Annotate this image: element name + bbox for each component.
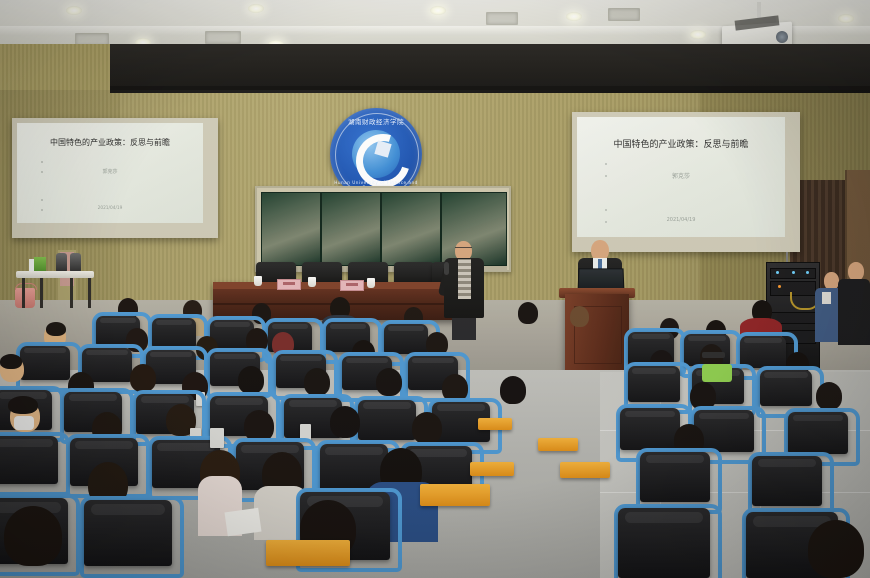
audience-head [570, 306, 589, 327]
auditorium-seat[interactable] [760, 370, 812, 406]
table-leg [40, 278, 43, 308]
table-leg [22, 278, 25, 308]
auditorium-seat[interactable] [384, 324, 428, 354]
slide-bullet [41, 199, 43, 201]
audience-hair [8, 396, 38, 414]
rack-led [792, 271, 795, 274]
mic-speaker-plaid-shirt [458, 259, 471, 299]
slide-bullet [41, 161, 43, 163]
face-mask [14, 416, 34, 430]
rack-led [778, 285, 781, 288]
right-slide-author: 郭克莎 [577, 171, 785, 180]
table-leg [88, 278, 91, 308]
chalkboard-panel [261, 192, 321, 266]
emblem-chinese-name: 湖南财政经济学院 [330, 116, 422, 126]
audience-head [130, 364, 156, 392]
ceiling-downlight [430, 6, 446, 15]
paper-cup [254, 276, 262, 286]
left-slide-title: 中国特色的产业政策：反思与前瞻 [17, 137, 203, 148]
side-table [16, 271, 94, 278]
name-placard [340, 280, 364, 291]
right-slide-date: 2021/04/19 [577, 217, 785, 223]
microphone-icon [444, 262, 449, 275]
left-slide-author: 郭克莎 [17, 168, 203, 175]
ceiling-downlight [66, 6, 82, 15]
water-bucket [15, 288, 35, 308]
paper-cup [367, 278, 375, 288]
rack-led [776, 271, 779, 274]
audience-head [412, 412, 442, 444]
slide-bullet [605, 209, 607, 211]
right-slide-title: 中国特色的产业政策：反思与前瞻 [577, 137, 785, 150]
auditorium-seat[interactable] [0, 436, 58, 484]
standing-man-body [838, 279, 870, 345]
staff-badge [822, 292, 831, 304]
auditorium-seat[interactable] [152, 318, 196, 348]
ceiling-downlight [248, 4, 264, 13]
chalkboard-panel [441, 192, 507, 266]
left-projection-screen-frame: 中国特色的产业政策：反思与前瞻 郭克莎 2021/04/19 [12, 118, 218, 238]
audience-head [330, 406, 360, 438]
ceiling-downlight [566, 12, 582, 21]
fold-down-desk[interactable] [538, 438, 578, 451]
left-slide-date: 2021/04/19 [17, 206, 203, 211]
audience-head [816, 382, 842, 410]
left-projection-screen: 中国特色的产业政策：反思与前瞻 郭克莎 2021/04/19 [17, 123, 203, 223]
rack-led [806, 271, 809, 274]
right-projection-screen-frame: 中国特色的产业政策：反思与前瞻 郭克莎 2021/04/19 [572, 112, 800, 252]
auditorium-seat[interactable] [618, 508, 710, 578]
name-placard [277, 279, 301, 290]
audience-head [376, 368, 402, 396]
auditorium-seat[interactable] [84, 500, 172, 566]
auditorium-seat[interactable] [788, 412, 848, 454]
chalkboard-panel [381, 192, 441, 266]
fold-down-desk[interactable] [420, 484, 490, 506]
bucket-handle [15, 283, 37, 290]
lecture-hall-photo: 湖南财政经济学院 Hunan University of Finance and… [0, 0, 870, 578]
auditorium-seat[interactable] [20, 346, 70, 380]
chalkboard-panel [321, 192, 381, 266]
auditorium-seat[interactable] [620, 408, 680, 450]
paper-cup [308, 277, 316, 287]
paper-notes [224, 508, 261, 536]
audience-head [500, 376, 526, 404]
ceiling-valance [110, 44, 870, 90]
thermos-flask [70, 253, 81, 272]
eyeglasses-icon [702, 352, 725, 358]
thermos-flask [56, 253, 67, 272]
smartphone-icon[interactable] [210, 428, 224, 448]
fold-down-desk[interactable] [470, 462, 514, 476]
green-bag [702, 364, 732, 382]
table-leg [70, 278, 73, 308]
audience-head [808, 520, 864, 578]
auditorium-seat[interactable] [640, 452, 710, 502]
auditorium-seat[interactable] [628, 366, 680, 402]
fold-down-desk[interactable] [478, 418, 512, 430]
right-projection-screen: 中国特色的产业政策：反思与前瞻 郭克莎 2021/04/19 [577, 117, 785, 237]
audience-hair [46, 322, 66, 336]
ceiling-downlight [690, 30, 706, 39]
projector-lens-icon [776, 31, 788, 43]
ceiling-downlight [838, 14, 854, 23]
fold-down-desk[interactable] [560, 462, 610, 478]
audience-head [4, 506, 62, 566]
auditorium-seat[interactable] [752, 456, 822, 506]
eyeglasses-icon [455, 247, 472, 252]
green-tea-box [34, 257, 46, 272]
ceiling-vent [486, 12, 518, 25]
audience-head [518, 302, 538, 324]
audience-head [238, 366, 264, 394]
ceiling-vent [205, 31, 241, 44]
audience-head [304, 368, 330, 396]
auditorium-seat[interactable] [358, 400, 416, 440]
slide-bullet [605, 163, 607, 165]
ceiling-vent [608, 8, 640, 21]
fold-down-desk[interactable] [266, 540, 350, 566]
audience-hair [0, 354, 22, 369]
